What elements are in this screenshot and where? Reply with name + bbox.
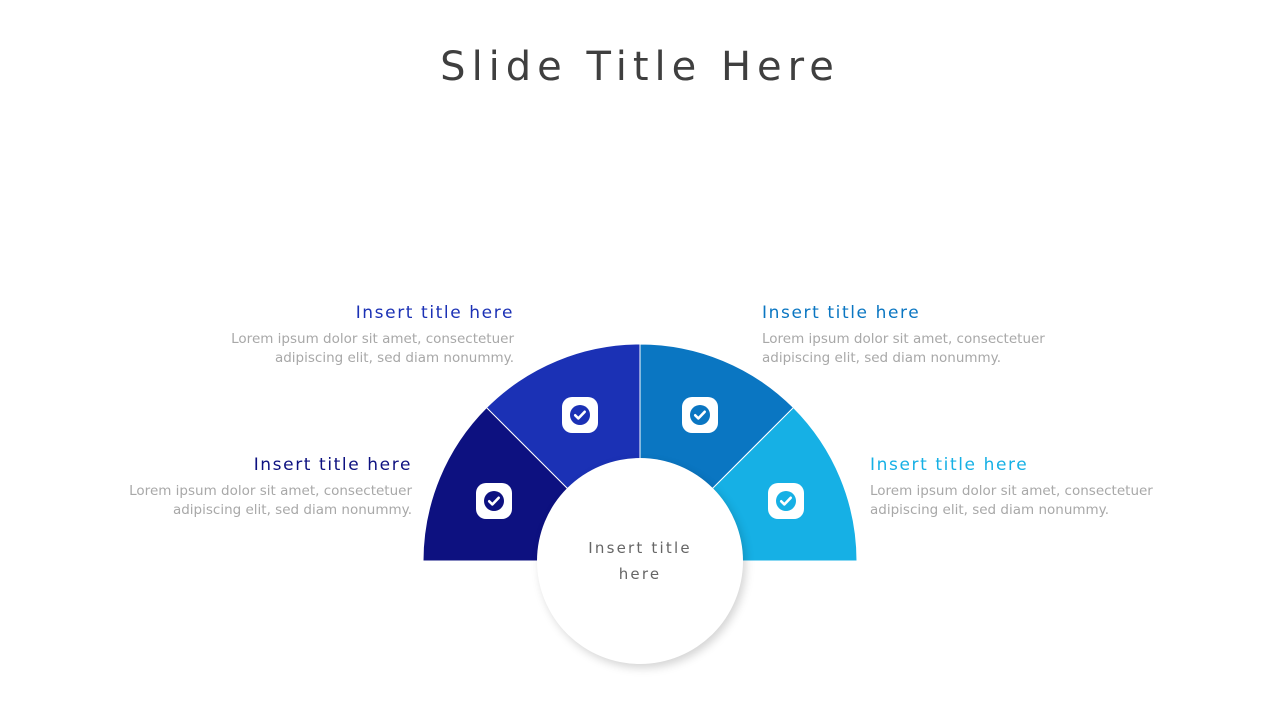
callout-title: Insert title here bbox=[214, 302, 514, 324]
center-hub-label: Insert title here bbox=[565, 535, 715, 588]
callout-bottom-right: Insert title here Lorem ipsum dolor sit … bbox=[870, 454, 1170, 519]
semicircle-diagram: Insert title here bbox=[0, 0, 1280, 720]
check-circle-icon bbox=[483, 490, 505, 512]
callout-body: Lorem ipsum dolor sit amet, consectetuer… bbox=[870, 482, 1170, 519]
callout-body: Lorem ipsum dolor sit amet, consectetuer… bbox=[112, 482, 412, 519]
segment-check-badge-navy[interactable] bbox=[476, 483, 512, 519]
callout-title: Insert title here bbox=[112, 454, 412, 476]
callout-title: Insert title here bbox=[762, 302, 1062, 324]
check-circle-icon bbox=[689, 404, 711, 426]
callout-top-right: Insert title here Lorem ipsum dolor sit … bbox=[762, 302, 1062, 367]
segment-check-badge-royal[interactable] bbox=[562, 397, 598, 433]
callout-bottom-left: Insert title here Lorem ipsum dolor sit … bbox=[112, 454, 412, 519]
callout-title: Insert title here bbox=[870, 454, 1170, 476]
callout-body: Lorem ipsum dolor sit amet, consectetuer… bbox=[214, 330, 514, 367]
callout-top-left: Insert title here Lorem ipsum dolor sit … bbox=[214, 302, 514, 367]
check-circle-icon bbox=[569, 404, 591, 426]
check-circle-icon bbox=[775, 490, 797, 512]
center-hub[interactable]: Insert title here bbox=[537, 458, 743, 664]
callout-body: Lorem ipsum dolor sit amet, consectetuer… bbox=[762, 330, 1062, 367]
segment-check-badge-blue[interactable] bbox=[682, 397, 718, 433]
segment-check-badge-cyan[interactable] bbox=[768, 483, 804, 519]
